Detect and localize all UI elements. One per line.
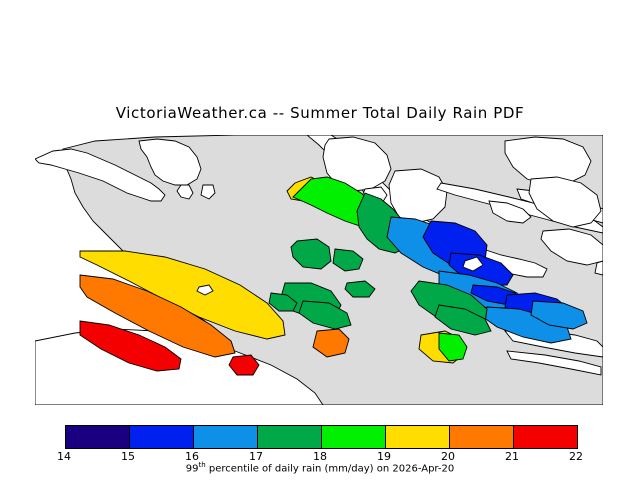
colorbar-segment-1[interactable] (129, 426, 193, 448)
caption-text: percentile of daily rain (mm/day) on 202… (206, 463, 455, 474)
colorbar-segment-4[interactable] (321, 426, 385, 448)
caption-ordinal-suffix: th (199, 461, 206, 469)
colorbar-segment-3[interactable] (257, 426, 321, 448)
caption-prefix: 99 (186, 463, 199, 474)
colorbar-segment-0[interactable] (66, 426, 129, 448)
colorbar-segment-6[interactable] (449, 426, 513, 448)
map-panel[interactable] (35, 135, 603, 405)
colorbar[interactable] (65, 425, 578, 449)
colorbar-segment-5[interactable] (385, 426, 449, 448)
colorbar-segment-2[interactable] (193, 426, 257, 448)
weather-map[interactable] (35, 135, 603, 405)
page-title: VictoriaWeather.ca -- Summer Total Daily… (0, 104, 640, 122)
colorbar-caption: 99th percentile of daily rain (mm/day) o… (0, 461, 640, 474)
colorbar-segment-7[interactable] (513, 426, 577, 448)
